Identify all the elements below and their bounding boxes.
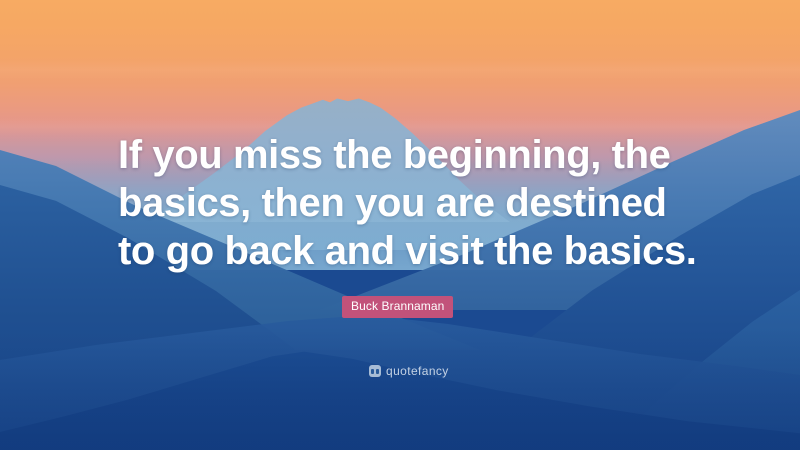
quote-poster: If you miss the beginning, the basics, t…	[0, 0, 800, 450]
watermark-label: quotefancy	[386, 365, 449, 377]
quote-line-2: basics, then you are destined	[118, 179, 708, 227]
cloud-band-upper	[0, 60, 800, 80]
watermark: quotefancy	[369, 365, 449, 377]
quote-block: If you miss the beginning, the basics, t…	[118, 131, 708, 275]
quote-line-1: If you miss the beginning, the	[118, 131, 708, 179]
quote-mark-icon	[369, 365, 381, 377]
bottom-shadow-wash	[0, 330, 800, 450]
quote-line-3: to go back and visit the basics.	[118, 227, 708, 275]
author-badge: Buck Brannaman	[342, 296, 453, 318]
